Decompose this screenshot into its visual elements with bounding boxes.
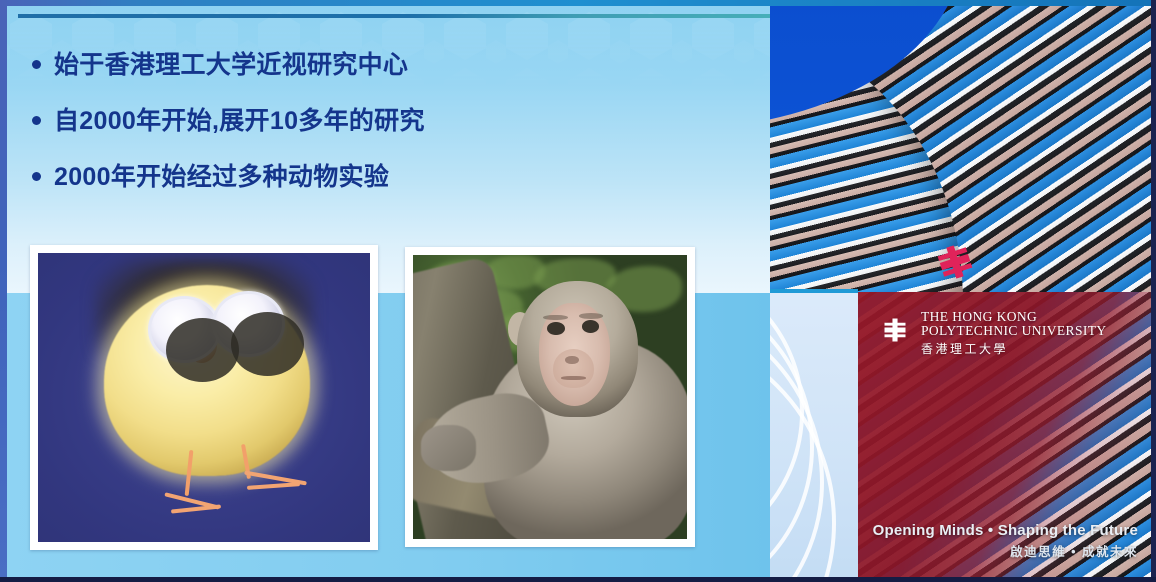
- photo-rhesus-macaque: [405, 247, 695, 547]
- list-item: 始于香港理工大学近视研究中心: [22, 48, 722, 82]
- photo-chick-with-lenses: [30, 245, 378, 550]
- monkey-scene: [413, 255, 687, 539]
- monkey-brow: [579, 313, 604, 319]
- monkey-hand: [421, 425, 476, 470]
- logo-line-1: THE HONG KONG: [921, 310, 1107, 323]
- bullet-dot-icon: [32, 172, 41, 181]
- bullet-text: 自2000年开始,展开10多年的研究: [54, 104, 425, 138]
- photo-inner: [38, 253, 370, 542]
- monkey-muzzle: [553, 349, 594, 389]
- top-accent-rule: [18, 14, 770, 18]
- slide-border-right: [1151, 0, 1156, 582]
- chick-pupil-left: [166, 318, 239, 382]
- chick-scene: [38, 253, 370, 542]
- bullet-text: 始于香港理工大学近视研究中心: [54, 48, 408, 82]
- chick-toe: [171, 505, 221, 514]
- monkey-eye: [547, 322, 565, 335]
- list-item: 2000年开始经过多种动物实验: [22, 160, 722, 194]
- polyu-logo-text: THE HONG KONG POLYTECHNIC UNIVERSITY 香港理…: [921, 310, 1107, 357]
- monkey-nose: [565, 356, 579, 365]
- tagline-chinese: 啟迪思維 • 成就未來: [873, 541, 1138, 560]
- logo-chinese: 香港理工大學: [921, 340, 1107, 357]
- bullet-dot-icon: [32, 116, 41, 125]
- logo-line-2: POLYTECHNIC UNIVERSITY: [921, 324, 1107, 337]
- bullet-dot-icon: [32, 60, 41, 69]
- polyu-tagline: Opening Minds • Shaping the Future 啟迪思維 …: [873, 522, 1138, 560]
- polyu-logo: THE HONG KONG POLYTECHNIC UNIVERSITY 香港理…: [878, 310, 1107, 357]
- slide-border-left: [0, 0, 7, 582]
- polyu-knot-icon: [878, 313, 912, 347]
- bullet-text: 2000年开始经过多种动物实验: [54, 160, 389, 194]
- slide-border-top: [0, 0, 1156, 6]
- bullet-list: 始于香港理工大学近视研究中心 自2000年开始,展开10多年的研究 2000年开…: [22, 48, 722, 216]
- photo-inner: [413, 255, 687, 539]
- white-fan-decoration: [770, 292, 864, 582]
- slide: 始于香港理工大学近视研究中心 自2000年开始,展开10多年的研究 2000年开…: [0, 0, 1156, 582]
- chick-toe: [247, 482, 300, 490]
- list-item: 自2000年开始,展开10多年的研究: [22, 104, 722, 138]
- tagline-english: Opening Minds • Shaping the Future: [873, 522, 1138, 539]
- red-diagonal-panel: THE HONG KONG POLYTECHNIC UNIVERSITY 香港理…: [858, 292, 1156, 582]
- polyu-branding-panel: THE HONG KONG POLYTECHNIC UNIVERSITY 香港理…: [770, 0, 1156, 582]
- monkey-mouth: [561, 376, 586, 381]
- chick-pupil-right: [231, 312, 304, 376]
- slide-border-bottom: [0, 577, 1156, 582]
- panel-divider: [770, 289, 858, 293]
